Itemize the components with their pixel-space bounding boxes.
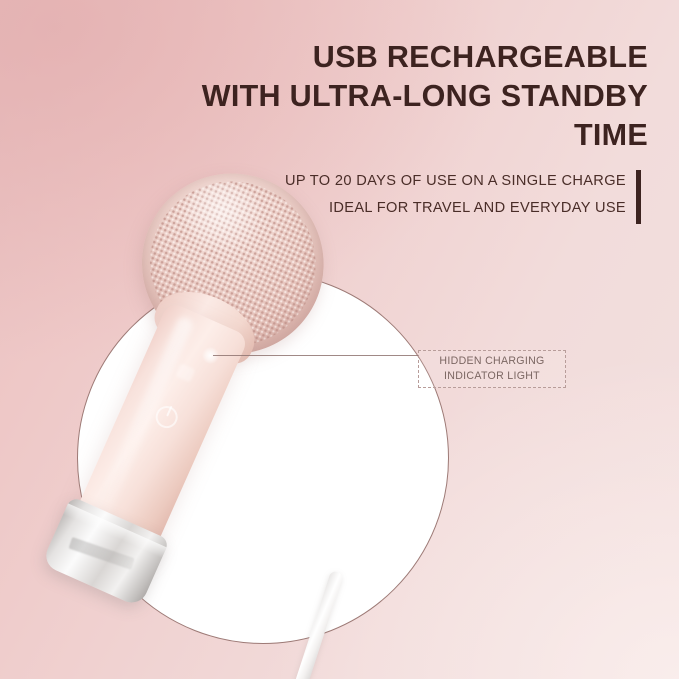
subtitle-line-1: UP TO 20 DAYS OF USE ON A SINGLE CHARGE (240, 168, 626, 195)
callout-line-2: INDICATOR LIGHT (420, 369, 564, 384)
product-spotlight-circle (77, 272, 449, 644)
subtitle-block: UP TO 20 DAYS OF USE ON A SINGLE CHARGE … (240, 168, 626, 222)
product-feature-banner: USB RECHARGEABLE WITH ULTRA-LONG STANDBY… (0, 0, 679, 679)
subtitle-accent-bar (636, 170, 641, 224)
callout-label: HIDDEN CHARGING INDICATOR LIGHT (420, 354, 564, 384)
headline-line-1: USB RECHARGEABLE (313, 40, 648, 74)
callout-leader-line (213, 355, 418, 356)
subtitle-line-2: IDEAL FOR TRAVEL AND EVERYDAY USE (240, 195, 626, 222)
callout-line-1: HIDDEN CHARGING (420, 354, 564, 369)
page-title: USB RECHARGEABLE WITH ULTRA-LONG STANDBY… (120, 38, 648, 155)
headline-line-2: WITH ULTRA-LONG STANDBY TIME (120, 77, 648, 155)
